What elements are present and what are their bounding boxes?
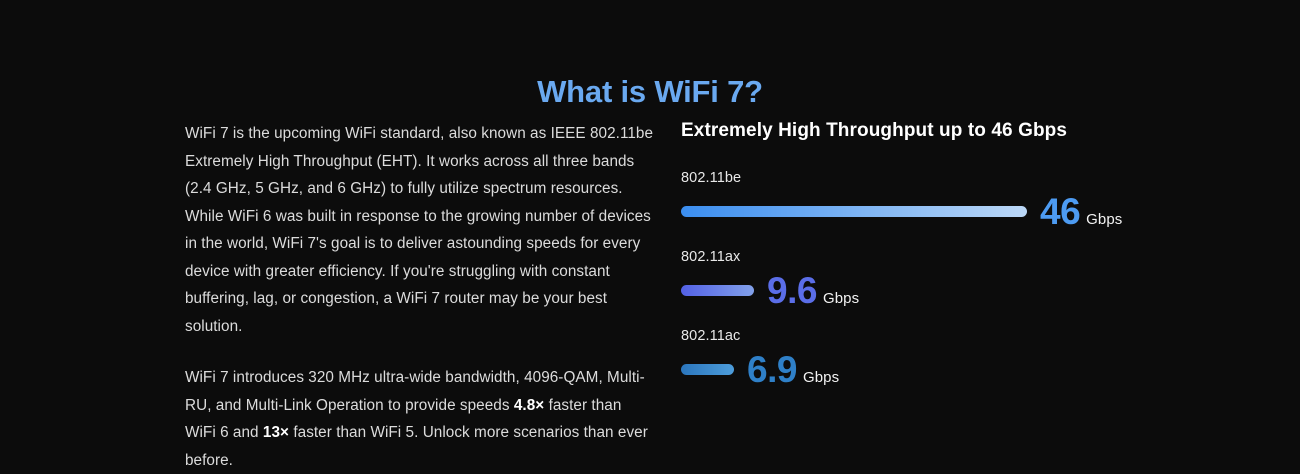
bar-track <box>681 206 1027 217</box>
bar-line: 9.6 Gbps <box>681 272 1181 309</box>
bar-unit: Gbps <box>823 290 859 307</box>
emphasis-text: 4.8× <box>514 397 544 414</box>
bar-row-802-11ax: 802.11ax 9.6 Gbps <box>681 249 1181 309</box>
bar-line: 46 Gbps <box>681 193 1181 230</box>
bar-track <box>681 364 734 375</box>
bar-track <box>681 285 754 296</box>
bar-fill <box>681 206 1027 217</box>
emphasis-text: 13× <box>263 424 289 441</box>
bar-value: 46 Gbps <box>1040 193 1122 230</box>
bar-value: 9.6 Gbps <box>767 272 859 309</box>
article-paragraph-2: WiFi 7 introduces 320 MHz ultra-wide ban… <box>185 364 655 474</box>
wifi7-infographic: What is WiFi 7? WiFi 7 is the upcoming W… <box>0 0 1300 467</box>
bar-fill <box>681 285 754 296</box>
bar-row-802-11be: 802.11be 46 Gbps <box>681 170 1181 230</box>
throughput-chart: Extremely High Throughput up to 46 Gbps … <box>681 120 1181 388</box>
bar-label: 802.11ax <box>681 249 1181 265</box>
bar-unit: Gbps <box>803 369 839 386</box>
article-paragraph-1: WiFi 7 is the upcoming WiFi standard, al… <box>185 120 655 340</box>
bar-line: 6.9 Gbps <box>681 351 1181 388</box>
bar-row-802-11ac: 802.11ac 6.9 Gbps <box>681 328 1181 388</box>
bar-number: 9.6 <box>767 272 817 309</box>
bar-label: 802.11be <box>681 170 1181 186</box>
bar-number: 6.9 <box>747 351 797 388</box>
bar-number: 46 <box>1040 193 1080 230</box>
page-title: What is WiFi 7? <box>0 74 1300 110</box>
body-text: WiFi 7 is the upcoming WiFi standard, al… <box>185 125 653 335</box>
article-text-column: WiFi 7 is the upcoming WiFi standard, al… <box>185 120 655 474</box>
bar-fill <box>681 364 734 375</box>
chart-title: Extremely High Throughput up to 46 Gbps <box>681 120 1181 142</box>
bar-unit: Gbps <box>1086 211 1122 228</box>
bar-label: 802.11ac <box>681 328 1181 344</box>
bar-value: 6.9 Gbps <box>747 351 839 388</box>
